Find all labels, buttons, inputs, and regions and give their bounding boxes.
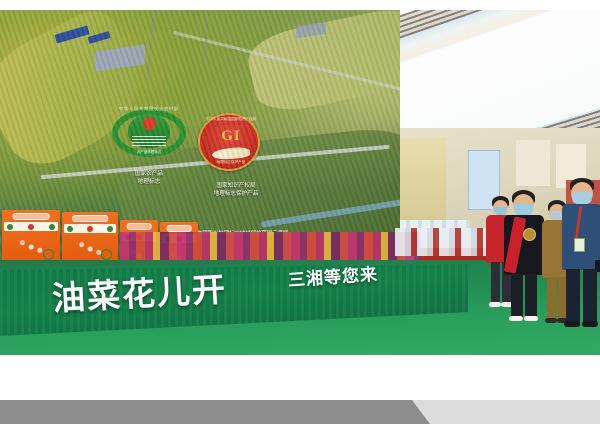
- visitor-blue-shirt: [562, 178, 600, 326]
- package-handle: [72, 215, 108, 222]
- sash-medal-icon: [523, 228, 536, 241]
- gi-red-emblem-wave: [212, 146, 251, 161]
- visitor-leg: [583, 269, 597, 326]
- gi-red-emblem-bottom-text: 地理标志保护产品: [202, 160, 260, 165]
- gi-emblem-ring: [112, 109, 186, 157]
- gi-protected-caption-line2: 地理标志保护产品: [188, 190, 284, 198]
- rice-package: [62, 212, 118, 264]
- package-handle: [13, 213, 50, 220]
- package-seal-green-icon: [67, 226, 73, 232]
- mural-field-patch-1: [0, 10, 159, 178]
- rice-product-display: [0, 206, 140, 264]
- visitor-shoe: [509, 316, 523, 321]
- agricultural-gi-emblem-icon: 中华人民共和国农业农村部 农产品地理标志: [112, 103, 186, 163]
- package-seal-red-icon: [87, 226, 93, 232]
- mural-building-2: [296, 22, 326, 38]
- gi-emblem-field-lines: [132, 134, 166, 146]
- mural-building-1: [95, 44, 145, 71]
- agricultural-gi-caption-line2: 地理标志: [103, 178, 195, 186]
- visitor-leg: [566, 269, 580, 326]
- package-seal-green2-icon: [107, 226, 113, 232]
- agricultural-gi-caption: 国家农产品 地理标志: [103, 170, 195, 186]
- package-label-band: [4, 222, 57, 231]
- face-mask-icon: [572, 192, 592, 204]
- mural-power-line-1: [146, 10, 155, 80]
- mural-road-2: [173, 31, 400, 92]
- visitor-shoe: [524, 316, 538, 321]
- gi-red-emblem-mark: GI: [200, 128, 262, 145]
- credit-footer: 德天人禾文旅 DE TIAN RENHE CULTURE TOURISM 202…: [0, 355, 600, 400]
- package-bottom-seal-icon: [101, 249, 112, 260]
- gi-red-emblem-disc: 中华人民共和国国家知识产权局 GI 地理标志保护产品: [198, 113, 260, 171]
- visitor-leg: [511, 274, 523, 320]
- mural-road-sign-2: [87, 31, 110, 44]
- gi-protected-product-emblem-icon: 中华人民共和国国家知识产权局 GI 地理标志保护产品: [198, 113, 260, 171]
- visitor-leg: [547, 277, 557, 322]
- package-handle: [167, 225, 192, 232]
- package-handle: [127, 223, 152, 230]
- screenshot-root: 中华人民共和国农业农村部 农产品地理标志 中华人民共和国国家知识产权局 GI 地…: [0, 0, 600, 424]
- package-seal-green2-icon: [49, 224, 55, 230]
- gi-protected-caption-line1: 国家知识产权局: [188, 182, 284, 190]
- package-seal-green-icon: [7, 224, 13, 230]
- package-bottom-seal-icon: [43, 249, 54, 260]
- visitor-shoe: [564, 321, 580, 327]
- banner-slogan-main: 油菜花儿开: [51, 263, 228, 320]
- id-badge: [574, 238, 585, 252]
- mural-road-sign-1: [54, 25, 89, 43]
- visitor-leg: [491, 262, 500, 306]
- bottom-gray-bar-dark-segment: [0, 400, 430, 424]
- mural-power-line-2: [203, 10, 209, 65]
- mural-road-1: [40, 145, 389, 179]
- bottom-gray-bar: [0, 400, 600, 424]
- agricultural-gi-caption-line1: 国家农产品: [103, 170, 195, 178]
- exhibition-photograph: 中华人民共和国农业农村部 农产品地理标志 中华人民共和国国家知识产权局 GI 地…: [0, 10, 600, 355]
- package-label-band: [64, 224, 116, 233]
- face-mask-icon: [514, 204, 533, 215]
- gi-red-emblem-top-text: 中华人民共和国国家知识产权局: [202, 117, 260, 122]
- gi-emblem-inner-shape: [128, 114, 170, 148]
- rice-package: [2, 210, 60, 264]
- visitor-leg: [525, 274, 537, 320]
- visitor-shoe: [582, 321, 598, 327]
- gi-protected-product-caption: 国家知识产权局 地理标志保护产品: [188, 182, 284, 198]
- gi-emblem-ring-bottom-text: 农产品地理标志: [116, 147, 182, 157]
- mural-field-patch-2: [244, 10, 400, 118]
- package-seal-red-icon: [28, 224, 34, 230]
- mural-river: [260, 198, 400, 227]
- gi-emblem-red-dot: [143, 117, 156, 130]
- visitor-shoe: [545, 318, 557, 323]
- gi-emblem-ring-top-text: 中华人民共和国农业农村部: [118, 103, 180, 115]
- booth-poster-cream: [516, 140, 550, 186]
